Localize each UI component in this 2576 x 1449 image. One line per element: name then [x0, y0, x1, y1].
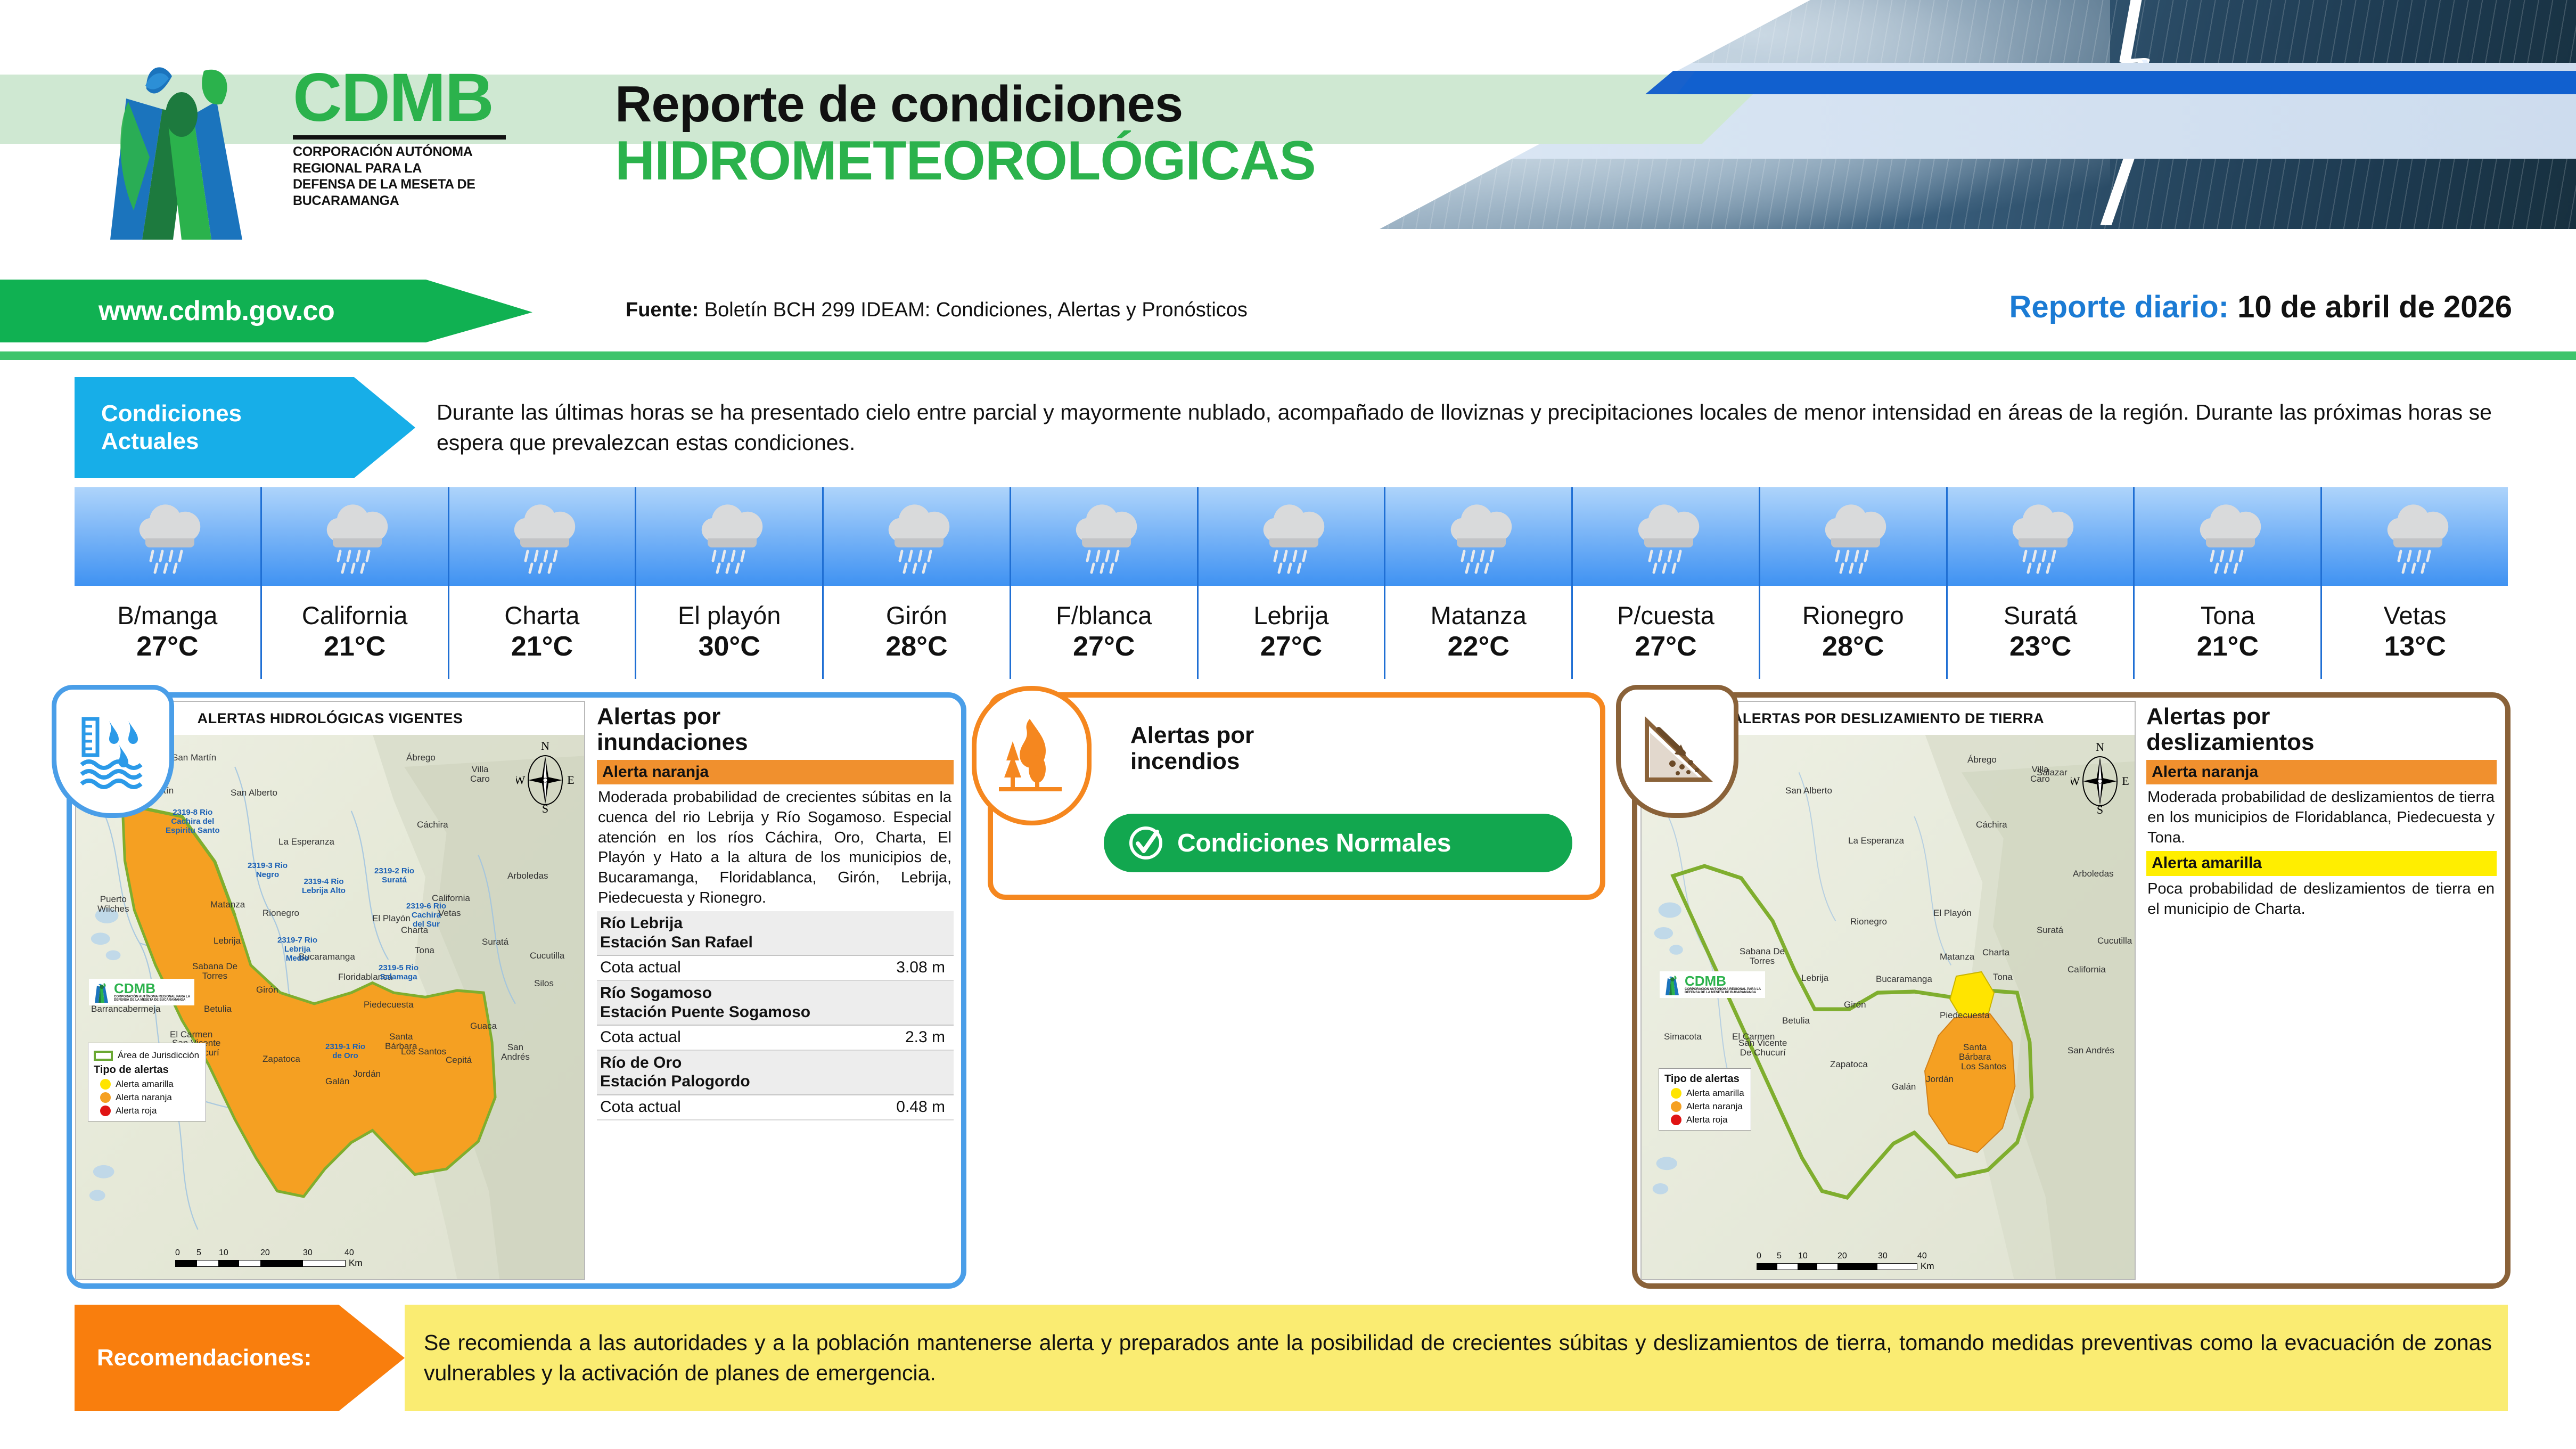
- flood-station-1-value: 2.3 m: [905, 1028, 945, 1046]
- current-conditions-tag-line1: Condiciones: [101, 400, 415, 428]
- weather-icon-cell: [824, 487, 1011, 586]
- svg-text:N: N: [541, 740, 549, 752]
- svg-text:E: E: [567, 773, 574, 787]
- flood-station-1-metric: Cota actual: [600, 1028, 681, 1046]
- compass-rose-icon: N S W E: [2071, 741, 2129, 818]
- weather-strip: B/manga27°CCalifornia21°CCharta21°CEl pl…: [75, 487, 2508, 679]
- weather-temp: 30°C: [699, 631, 760, 663]
- svg-text:W: W: [516, 773, 526, 787]
- landslide-map-container: ALERTAS POR DESLIZAMIENTO DE TIERRA: [1637, 698, 2139, 1283]
- jurisdiction-label: Área de Jurisdicción: [118, 1050, 199, 1061]
- weather-icon-cell: [75, 487, 262, 586]
- flood-map-container: ALERTAS HIDROLÓGICAS VIGENTES: [72, 698, 588, 1283]
- weather-icon-cell: [1199, 487, 1386, 586]
- fire-status-badge: Condiciones Normales: [1104, 814, 1572, 872]
- flood-alert-card: ALERTAS HIDROLÓGICAS VIGENTES: [67, 692, 966, 1289]
- rain-cloud-icon: [1439, 497, 1519, 577]
- weather-labels-row: B/manga27°CCalifornia21°CCharta21°CEl pl…: [75, 586, 2508, 679]
- rain-cloud-icon: [876, 497, 956, 577]
- current-conditions-tag-line2: Actuales: [101, 428, 415, 455]
- logo-acronym: CDMB: [293, 64, 522, 132]
- weather-icon-cell: [1011, 487, 1199, 586]
- logo-text-block: CDMB CORPORACIÓN AUTÓNOMA REGIONAL PARA …: [293, 64, 522, 209]
- weather-city: El playón: [678, 602, 781, 629]
- flood-map-scalebar: 0510 203040 Km: [175, 1248, 362, 1268]
- logo-divider: [293, 135, 506, 140]
- weather-icon-cell: [636, 487, 824, 586]
- landslide-map-terrain: [1642, 734, 2135, 1279]
- weather-city: Rionegro: [1802, 602, 1904, 629]
- flood-heading-line1: Alertas por: [597, 704, 954, 730]
- rain-cloud-icon: [502, 497, 582, 577]
- svg-text:E: E: [2122, 774, 2129, 788]
- flood-station-1-river: Río Sogamoso: [600, 984, 949, 1002]
- fire-alert-card: Alertas por incendios Condiciones Normal…: [988, 692, 1605, 900]
- cdmb-logo: CDMB CORPORACIÓN AUTÓNOMA REGIONAL PARA …: [83, 51, 562, 242]
- rain-cloud-icon: [127, 497, 207, 577]
- flood-station-2-river: Río de Oro: [600, 1053, 949, 1072]
- weather-icon-cell: [1385, 487, 1573, 586]
- rain-cloud-icon: [2000, 497, 2080, 577]
- report-date-block: Reporte diario: 10 de abril de 2026: [2009, 289, 2512, 325]
- forest-fire-icon: [972, 686, 1092, 825]
- flood-text-panel: Alertas por inundaciones Alerta naranja …: [588, 698, 961, 1283]
- flood-station-2: Río de Oro Estación Palogordo Cota actua…: [597, 1051, 954, 1120]
- flood-station-0-river: Río Lebrija: [600, 914, 949, 932]
- rain-cloud-icon: [2375, 497, 2455, 577]
- weather-station-cell: Lebrija27°C: [1199, 586, 1386, 679]
- flood-station-0-value: 3.08 m: [896, 959, 945, 977]
- legend-types-heading: Tipo de alertas: [1664, 1073, 1744, 1085]
- rain-cloud-icon: [315, 497, 395, 577]
- flood-station-2-name: Estación Palogordo: [600, 1072, 949, 1091]
- source-line: Fuente: Boletín BCH 299 IDEAM: Condicion…: [626, 299, 1248, 322]
- report-page: CDMB CORPORACIÓN AUTÓNOMA REGIONAL PARA …: [0, 0, 2576, 1449]
- recommendations-body: Se recomienda a las autoridades y a la p…: [405, 1305, 2508, 1411]
- landslide-heading-line2: deslizamientos: [2146, 730, 2497, 755]
- flood-station-1-name: Estación Puente Sogamoso: [600, 1003, 949, 1021]
- fire-heading-line2: incendios: [1130, 748, 1254, 774]
- weather-station-cell: Vetas13°C: [2322, 586, 2508, 679]
- flood-station-0-name: Estación San Rafael: [600, 933, 949, 952]
- weather-temp: 21°C: [2197, 631, 2259, 663]
- rain-cloud-icon: [1251, 497, 1331, 577]
- weather-city: B/manga: [117, 602, 217, 629]
- weather-icon-cell: [1948, 487, 2135, 586]
- green-divider: [0, 351, 2576, 360]
- logo-subtitle-line1: CORPORACIÓN AUTÓNOMA REGIONAL PARA LA: [293, 144, 522, 176]
- recommendations-text: Se recomienda a las autoridades y a la p…: [424, 1328, 2492, 1389]
- website-url[interactable]: www.cdmb.gov.co: [99, 295, 334, 327]
- website-pill[interactable]: www.cdmb.gov.co: [0, 280, 532, 342]
- url-source-bar: www.cdmb.gov.co Fuente: Boletín BCH 299 …: [0, 280, 2576, 354]
- weather-temp: 27°C: [136, 631, 198, 663]
- weather-station-cell: Tona21°C: [2135, 586, 2322, 679]
- weather-icons-row: [75, 487, 2508, 586]
- flood-alert-text: Moderada probabilidad de crecientes súbi…: [597, 784, 954, 911]
- flood-station-1: Río Sogamoso Estación Puente Sogamoso Co…: [597, 981, 954, 1051]
- rain-cloud-icon: [1813, 497, 1893, 577]
- weather-city: Matanza: [1431, 602, 1527, 629]
- weather-city: Girón: [886, 602, 947, 629]
- weather-temp: 27°C: [1260, 631, 1322, 663]
- weather-city: P/cuesta: [1617, 602, 1714, 629]
- weather-icon-cell: [2135, 487, 2322, 586]
- page-header: CDMB CORPORACIÓN AUTÓNOMA REGIONAL PARA …: [0, 0, 2576, 277]
- landslide-card-heading: Alertas por deslizamientos: [2146, 704, 2497, 756]
- logo-subtitle-line2: DEFENSA DE LA MESETA DE BUCARAMANGA: [293, 176, 522, 209]
- rain-cloud-icon: [2188, 497, 2268, 577]
- compass-rose-icon: N S W E: [516, 740, 575, 817]
- report-date-label: Reporte diario:: [2009, 290, 2229, 324]
- rain-cloud-icon: [1064, 497, 1144, 577]
- report-date-value: 10 de abril de 2026: [2237, 290, 2512, 324]
- weather-icon-cell: [1573, 487, 1760, 586]
- landslide-alert-level-yellow: Alerta amarilla: [2146, 851, 2497, 876]
- weather-icon-cell: [449, 487, 637, 586]
- alert-cards-row: ALERTAS HIDROLÓGICAS VIGENTES: [0, 687, 2576, 1289]
- landslide-map-legend: Tipo de alertas Alerta amarilla Alerta n…: [1659, 1068, 1751, 1131]
- weather-temp: 21°C: [511, 631, 573, 663]
- svg-text:N: N: [2096, 741, 2104, 754]
- flood-heading-line2: inundaciones: [597, 730, 954, 755]
- flood-card-heading: Alertas por inundaciones: [597, 704, 954, 756]
- landslide-alert-text-orange: Moderada probabilidad de deslizamientos …: [2146, 784, 2497, 851]
- landslide-alert-card: ALERTAS POR DESLIZAMIENTO DE TIERRA: [1632, 692, 2511, 1289]
- report-title: Reporte de condiciones HIDROMETEOROLÓGIC…: [615, 77, 1316, 190]
- weather-temp: 21°C: [324, 631, 385, 663]
- current-conditions-body: Durante las últimas horas se ha presenta…: [415, 377, 2508, 478]
- header-blue-bar: [1677, 71, 2576, 94]
- weather-city: Tona: [2201, 602, 2255, 629]
- rain-cloud-icon: [690, 497, 769, 577]
- flood-alert-level: Alerta naranja: [597, 760, 954, 785]
- weather-temp: 28°C: [885, 631, 947, 663]
- landslide-heading-line1: Alertas por: [2146, 704, 2497, 730]
- weather-icon-cell: [1760, 487, 1948, 586]
- weather-city: Vetas: [2384, 602, 2447, 629]
- fire-card-heading: Alertas por incendios: [1130, 722, 1254, 775]
- flood-station-0-metric: Cota actual: [600, 959, 681, 977]
- weather-station-cell: F/blanca27°C: [1011, 586, 1199, 679]
- landslide-map-scalebar: 0510 203040 Km: [1757, 1251, 1932, 1272]
- flood-station-2-metric: Cota actual: [600, 1098, 681, 1116]
- landslide-alert-level-orange: Alerta naranja: [2146, 760, 2497, 785]
- weather-station-cell: California21°C: [262, 586, 449, 679]
- jurisdiction-swatch: [94, 1051, 113, 1061]
- recommendations-tag-label: Recomendaciones:: [97, 1345, 311, 1371]
- source-text: Boletín BCH 299 IDEAM: Condiciones, Aler…: [704, 299, 1248, 321]
- landslide-alert-text-yellow: Poca probabilidad de deslizamientos de t…: [2146, 876, 2497, 922]
- weather-station-cell: Rionegro28°C: [1760, 586, 1948, 679]
- weather-station-cell: B/manga27°C: [75, 586, 262, 679]
- legend-types-heading: Tipo de alertas: [94, 1064, 199, 1076]
- weather-icon-cell: [262, 487, 449, 586]
- flood-map-cdmb-logo: CDMB CORPORACIÓN AUTÓNOMA REGIONAL PARA …: [89, 979, 194, 1005]
- landslide-map-cdmb-logo: CDMB CORPORACIÓN AUTÓNOMA REGIONAL PARA …: [1660, 971, 1765, 998]
- recommendations-section: Recomendaciones: Se recomienda a las aut…: [75, 1305, 2508, 1411]
- weather-temp: 28°C: [1822, 631, 1884, 663]
- check-circle-icon: [1126, 823, 1166, 863]
- weather-icon-cell: [2322, 487, 2508, 586]
- fire-status-label: Condiciones Normales: [1177, 829, 1451, 858]
- weather-city: Charta: [504, 602, 579, 629]
- title-line-1: Reporte de condiciones: [615, 77, 1316, 132]
- weather-temp: 22°C: [1448, 631, 1509, 663]
- weather-station-cell: Matanza22°C: [1385, 586, 1573, 679]
- weather-temp: 27°C: [1635, 631, 1696, 663]
- weather-temp: 27°C: [1073, 631, 1135, 663]
- weather-station-cell: Charta21°C: [449, 586, 637, 679]
- current-conditions-tag: Condiciones Actuales: [75, 377, 415, 478]
- weather-station-cell: El playón30°C: [636, 586, 824, 679]
- recommendations-tag: Recomendaciones:: [75, 1305, 405, 1411]
- weather-station-cell: P/cuesta27°C: [1573, 586, 1760, 679]
- svg-text:W: W: [2071, 774, 2080, 788]
- weather-station-cell: Suratá23°C: [1948, 586, 2135, 679]
- landslide-text-panel: Alertas por deslizamientos Alerta naranj…: [2139, 698, 2505, 1283]
- weather-city: California: [302, 602, 408, 629]
- weather-city: Lebrija: [1253, 602, 1328, 629]
- weather-city: Suratá: [2004, 602, 2077, 629]
- current-conditions-text: Durante las últimas horas se ha presenta…: [437, 397, 2492, 459]
- weather-temp: 13°C: [2384, 631, 2446, 663]
- landslide-icon: [1616, 685, 1738, 818]
- flood-station-2-value: 0.48 m: [896, 1098, 945, 1116]
- fire-heading-line1: Alertas por: [1130, 722, 1254, 748]
- water-level-gauge-icon: [52, 685, 174, 818]
- weather-station-cell: Girón28°C: [824, 586, 1011, 679]
- flood-map-legend: Área de Jurisdicción Tipo de alertas Ale…: [88, 1043, 206, 1121]
- flood-station-0: Río Lebrija Estación San Rafael Cota act…: [597, 911, 954, 981]
- current-conditions-section: Condiciones Actuales Durante las últimas…: [75, 377, 2508, 478]
- source-label: Fuente:: [626, 299, 699, 321]
- weather-temp: 23°C: [2009, 631, 2071, 663]
- title-line-2: HIDROMETEOROLÓGICAS: [615, 132, 1316, 190]
- rain-cloud-icon: [1626, 497, 1706, 577]
- weather-city: F/blanca: [1056, 602, 1152, 629]
